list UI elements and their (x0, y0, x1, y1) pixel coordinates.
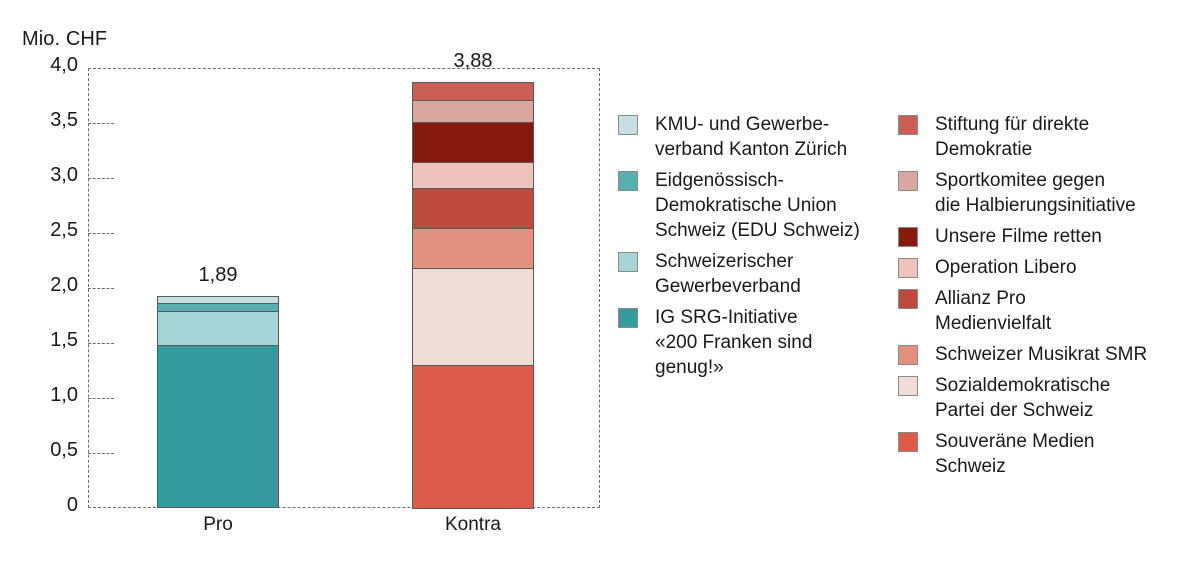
legend-swatch-icon (618, 308, 638, 328)
legend-swatch-icon (618, 115, 638, 135)
y-axis-tick-label: 2,0 (0, 274, 78, 297)
bar-segment[interactable] (412, 365, 534, 509)
x-axis-tick-label-pro: Pro (138, 514, 298, 536)
legend-item[interactable]: Sportkomitee gegen die Halbierungsinitia… (898, 168, 1198, 218)
gridline (88, 123, 114, 124)
bar-segment[interactable] (157, 345, 279, 508)
legend-swatch-icon (898, 258, 918, 278)
legend-swatch-icon (618, 252, 638, 272)
y-axis-unit-label: Mio. CHF (22, 28, 107, 51)
gridline (88, 288, 114, 289)
y-axis-tick-label: 3,0 (0, 164, 78, 187)
stacked-bar-chart: Mio. CHF 4,03,53,02,52,01,51,00,50 1,893… (0, 0, 1200, 562)
bar-segment[interactable] (412, 228, 534, 269)
gridline (88, 178, 114, 179)
y-axis-tick-label: 4,0 (0, 54, 78, 77)
legend-item-label: Allianz Pro Medienvielfalt (935, 286, 1051, 336)
legend-item-label: Souveräne Medien Schweiz (935, 429, 1095, 479)
bar-segment[interactable] (157, 311, 279, 346)
legend-item-label: Schweizer Musikrat SMR (935, 342, 1147, 367)
y-axis-tick-label: 1,5 (0, 329, 78, 352)
legend-item-label: Sportkomitee gegen die Halbierungsinitia… (935, 168, 1136, 218)
legend-item[interactable]: Souveräne Medien Schweiz (898, 429, 1198, 479)
bar-segment[interactable] (412, 82, 534, 101)
legend-swatch-icon (898, 115, 918, 135)
bar-total-label-kontra: 3,88 (403, 50, 543, 73)
legend-swatch-icon (898, 376, 918, 396)
gridline (88, 453, 114, 454)
gridline (88, 343, 114, 344)
legend-item-label: KMU- und Gewerbe- verband Kanton Zürich (655, 112, 847, 162)
legend-swatch-icon (898, 171, 918, 191)
bar-segment[interactable] (412, 100, 534, 123)
legend-item-label: IG SRG-Initiative «200 Franken sind genu… (655, 305, 812, 380)
legend-item-label: Unsere Filme retten (935, 224, 1102, 249)
legend-item-label: Stiftung für direkte Demokratie (935, 112, 1089, 162)
legend-item-label: Sozialdemokratische Partei der Schweiz (935, 373, 1110, 423)
bar-segment[interactable] (412, 162, 534, 189)
legend-swatch-icon (618, 171, 638, 191)
legend-item[interactable]: Schweizer Musikrat SMR (898, 342, 1198, 367)
bar-segment[interactable] (412, 122, 534, 163)
x-axis-tick-label-kontra: Kontra (393, 514, 553, 536)
legend-item[interactable]: KMU- und Gewerbe- verband Kanton Zürich (618, 112, 888, 162)
legend-item[interactable]: Operation Libero (898, 255, 1198, 280)
legend-item[interactable]: Eidgenössisch- Demokratische Union Schwe… (618, 168, 888, 243)
legend-column-kontra: Stiftung für direkte DemokratieSportkomi… (898, 112, 1198, 485)
gridline (88, 233, 114, 234)
legend-item-label: Schweizerischer Gewerbeverband (655, 249, 801, 299)
bar-total-label-pro: 1,89 (148, 264, 288, 287)
y-axis-tick-label: 3,5 (0, 109, 78, 132)
legend-item[interactable]: Allianz Pro Medienvielfalt (898, 286, 1198, 336)
legend-item[interactable]: Sozialdemokratische Partei der Schweiz (898, 373, 1198, 423)
legend-swatch-icon (898, 289, 918, 309)
gridline (88, 398, 114, 399)
legend-item[interactable]: IG SRG-Initiative «200 Franken sind genu… (618, 305, 888, 380)
bar-segment[interactable] (412, 188, 534, 229)
legend-swatch-icon (898, 345, 918, 365)
y-axis-tick-label: 0 (0, 494, 78, 517)
y-axis-tick-label: 2,5 (0, 219, 78, 242)
legend-item[interactable]: Stiftung für direkte Demokratie (898, 112, 1198, 162)
legend-item-label: Operation Libero (935, 255, 1077, 280)
legend-swatch-icon (898, 227, 918, 247)
legend-item[interactable]: Schweizerischer Gewerbeverband (618, 249, 888, 299)
y-axis-tick-label: 1,0 (0, 384, 78, 407)
y-axis-tick-label: 0,5 (0, 439, 78, 462)
legend-item-label: Eidgenössisch- Demokratische Union Schwe… (655, 168, 860, 243)
legend-item[interactable]: Unsere Filme retten (898, 224, 1198, 249)
bar-segment[interactable] (412, 268, 534, 366)
legend-swatch-icon (898, 432, 918, 452)
legend-column-pro: KMU- und Gewerbe- verband Kanton ZürichE… (618, 112, 888, 386)
